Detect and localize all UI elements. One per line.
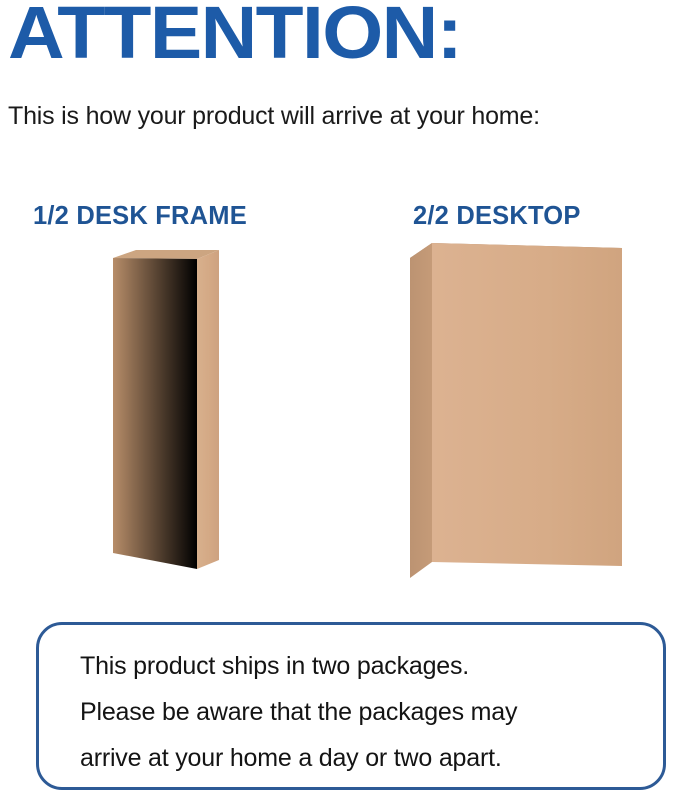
box1-side-face xyxy=(113,258,197,569)
cardboard-box-tall-icon xyxy=(113,250,219,569)
package-label-desk-frame: 1/2 DESK FRAME xyxy=(33,202,247,231)
box2-front-face xyxy=(432,243,622,566)
box1-top-face xyxy=(113,250,219,259)
box1-front-face xyxy=(197,250,219,569)
shipping-note-text: This product ships in two packages. Plea… xyxy=(80,643,640,781)
box2-side-face xyxy=(410,243,432,578)
shipping-note-callout: This product ships in two packages. Plea… xyxy=(36,622,666,790)
package-label-desktop: 2/2 DESKTOP xyxy=(413,202,581,231)
cardboard-box-flat-icon xyxy=(410,243,622,578)
page-title: ATTENTION: xyxy=(8,0,679,70)
page-subtitle: This is how your product will arrive at … xyxy=(8,103,678,131)
box2-top-face xyxy=(410,243,622,260)
